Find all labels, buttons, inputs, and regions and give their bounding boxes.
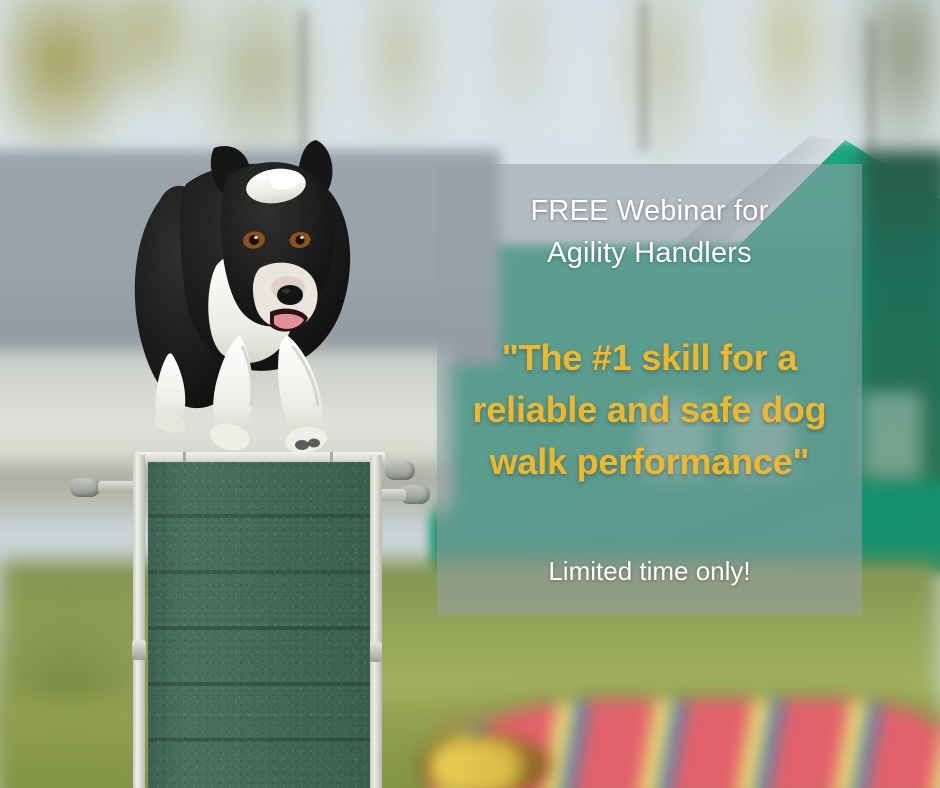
headline-line-1: FREE Webinar for	[437, 190, 862, 232]
quote-line-2: reliable and safe dog	[447, 384, 852, 436]
cta-text: Limited time only!	[437, 554, 862, 588]
plank-texture	[148, 462, 370, 788]
plank-support-stub	[98, 481, 138, 493]
plank-end-cap-icon	[70, 478, 100, 497]
plank-surface	[148, 462, 370, 788]
promo-text-overlay: FREE Webinar for Agility Handlers "The #…	[437, 164, 862, 615]
plank-bolt-icon	[368, 642, 382, 662]
headline-block: FREE Webinar for Agility Handlers	[437, 190, 862, 274]
promo-poster: FREE Webinar for Agility Handlers "The #…	[0, 0, 940, 788]
quote-line-3: walk performance"	[447, 436, 852, 488]
quote-block: "The #1 skill for a reliable and safe do…	[437, 332, 862, 488]
plank-rail-left	[133, 455, 145, 788]
plank-bolt-icon	[132, 640, 146, 660]
border-collie-dog	[110, 140, 420, 470]
quote-line-1: "The #1 skill for a	[447, 332, 852, 384]
headline-line-2: Agility Handlers	[437, 232, 862, 274]
plank-rail-right	[370, 455, 382, 788]
